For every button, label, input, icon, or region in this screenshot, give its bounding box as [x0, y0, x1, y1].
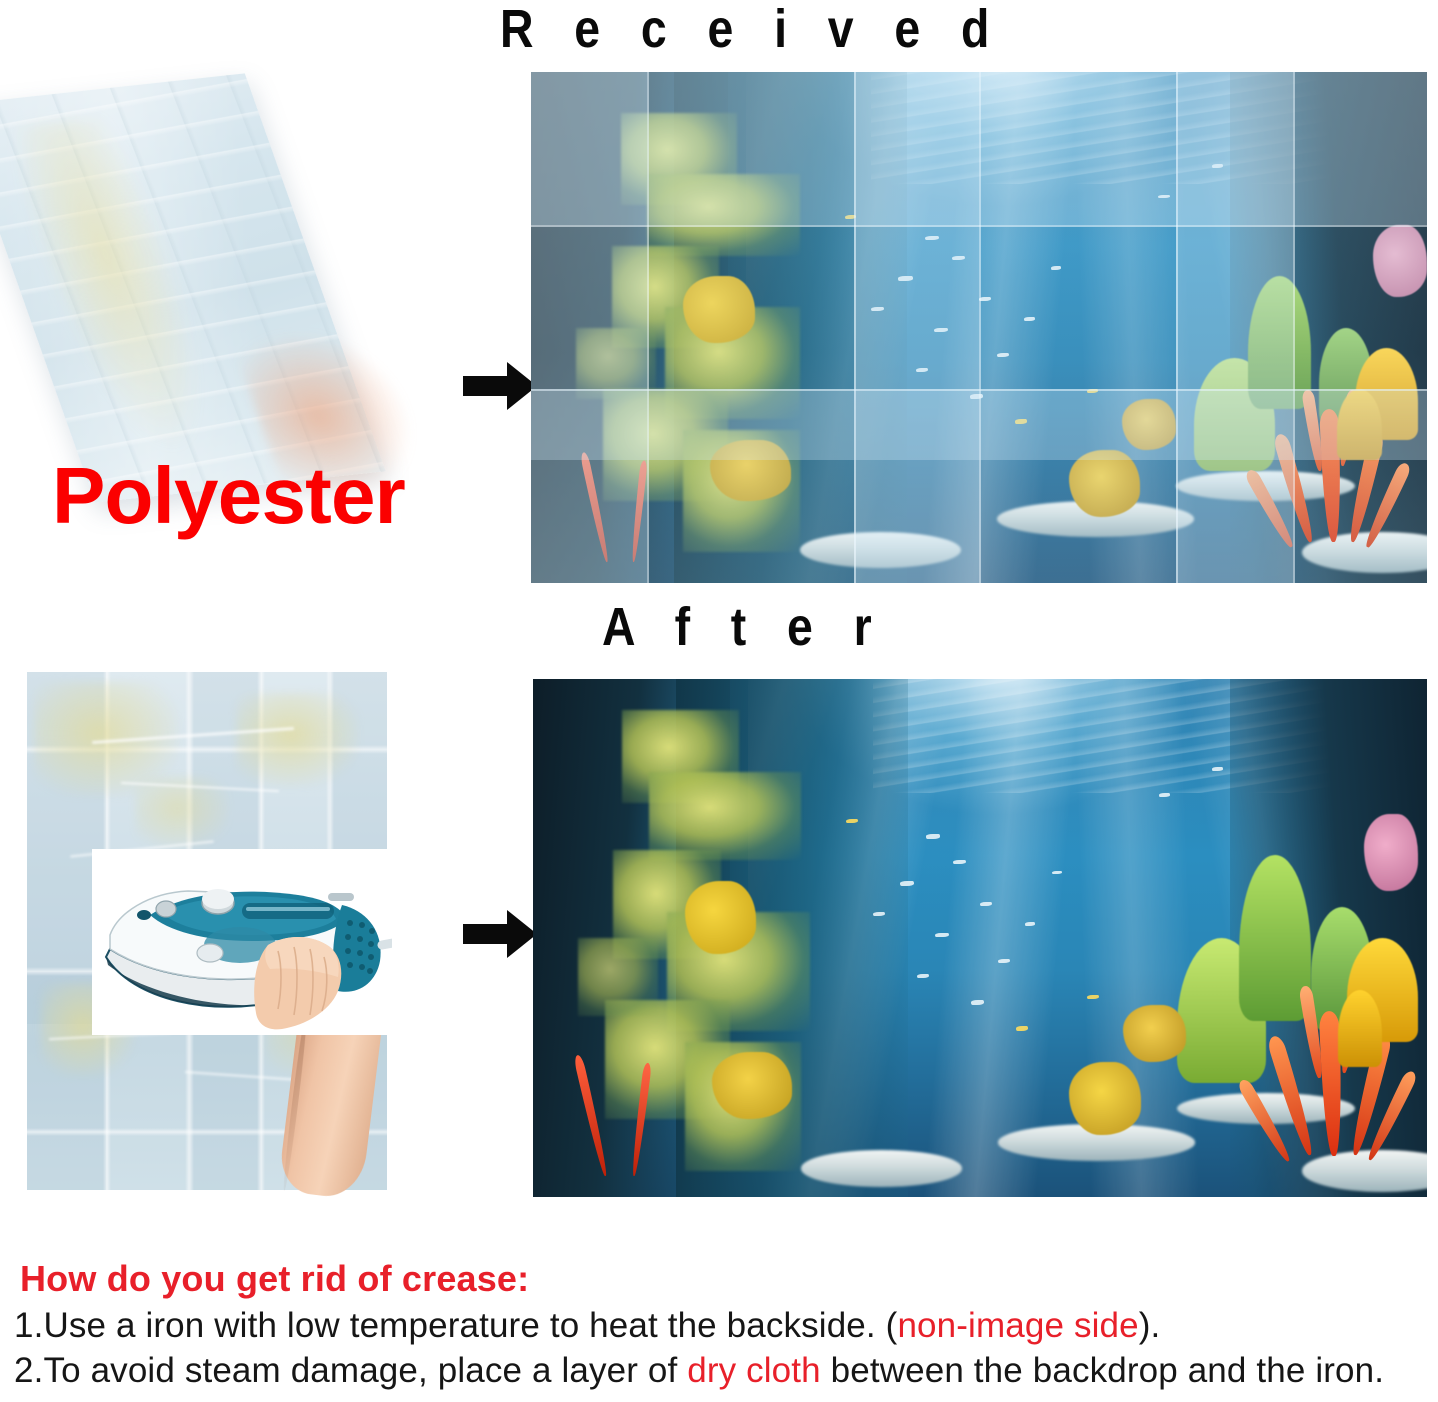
received-heading: R e c e i v e d: [500, 2, 1003, 56]
care-2-prefix: 2.To avoid steam damage, place a layer o…: [14, 1351, 687, 1390]
polyester-material-label: Polyester: [52, 456, 405, 536]
received-backdrop-photo: [531, 72, 1427, 583]
reef-artwork: [533, 679, 1427, 1197]
reef-artwork: [531, 72, 1427, 583]
arrow-right-icon: [461, 906, 539, 962]
care-2-suffix: between the backdrop and the iron.: [821, 1351, 1384, 1390]
after-heading: A f t e r: [602, 600, 886, 654]
care-instruction-2: 2.To avoid steam damage, place a layer o…: [14, 1351, 1384, 1391]
care-2-highlight: dry cloth: [687, 1351, 821, 1390]
after-backdrop-photo: [533, 679, 1427, 1197]
care-1-prefix: 1.Use a iron with low temperature to hea…: [14, 1306, 897, 1345]
arrow-right-icon: [461, 358, 539, 414]
iron-photo-card: [92, 849, 392, 1035]
steam-iron-photo: [92, 849, 392, 1035]
care-1-highlight: non-image side: [897, 1306, 1138, 1345]
care-instructions-heading: How do you get rid of crease:: [20, 1258, 529, 1300]
care-1-suffix: ).: [1139, 1306, 1161, 1345]
care-instruction-1: 1.Use a iron with low temperature to hea…: [14, 1306, 1160, 1346]
polyester-swatch-photo: [12, 82, 442, 502]
